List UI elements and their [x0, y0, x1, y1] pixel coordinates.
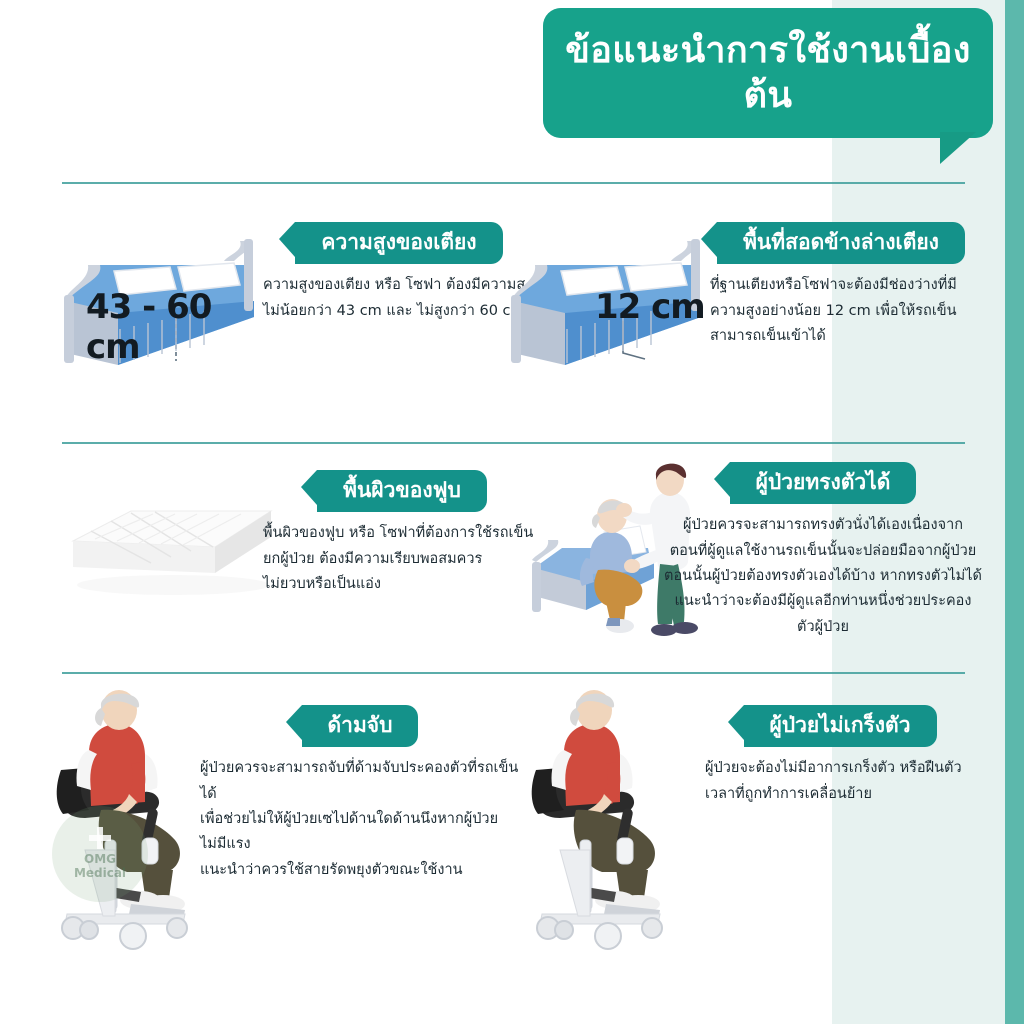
under-bed-clearance-measure-label: 12 cm: [595, 287, 705, 327]
illustration-bed-height: 43 - 60 cm: [58, 225, 258, 385]
header-speech-bubble: ข้อแนะนำการใช้งานเบื้องต้น: [543, 8, 993, 138]
ribbon-wrap-handle-grip: ด้ามจับ: [200, 705, 520, 747]
section-body-handle-grip: ผู้ป่วยควรจะสามารถจับที่ด้ามจับประคองตัว…: [200, 756, 520, 883]
infographic-page: ข้อแนะนำการใช้งานเบื้องต้น 43 - 60 cm คว…: [0, 0, 1024, 1024]
divider-3: [62, 672, 965, 674]
ribbon-wrap-mattress-surface: พื้นผิวของฟูบ: [263, 470, 541, 512]
bed-height-measure-label: 43 - 60 cm: [86, 287, 258, 367]
section-body-mattress-surface: พื้นผิวของฟูบ หรือ โซฟาที่ต้องการใช้รถเข…: [263, 521, 541, 597]
section-title-mattress-surface: พื้นผิวของฟูบ: [317, 470, 487, 512]
section-title-bed-height: ความสูงของเตียง: [295, 222, 502, 264]
illustration-transfer-chair-right: [520, 690, 720, 950]
patient-in-transfer-chair-icon: [520, 690, 720, 950]
divider-1: [62, 182, 965, 184]
card-no-muscle-spasm: ผู้ป่วยไม่เกร็งตัว ผู้ป่วยจะต้องไม่มีอาก…: [705, 705, 975, 807]
section-body-no-muscle-spasm: ผู้ป่วยจะต้องไม่มีอาการเกร็งตัว หรือฝืนต…: [705, 756, 975, 807]
ribbon-wrap-patient-can-sit-upright: ผู้ป่วยทรงตัวได้: [663, 462, 983, 504]
ribbon-wrap-no-muscle-spasm: ผู้ป่วยไม่เกร็งตัว: [705, 705, 975, 747]
section-title-handle-grip: ด้ามจับ: [302, 705, 419, 747]
illustration-under-bed-clearance: 12 cm: [505, 225, 705, 385]
ribbon-wrap-bed-height: ความสูงของเตียง: [263, 222, 535, 264]
card-bed-height: ความสูงของเตียง ความสูงของเตียง หรือ โซฟ…: [263, 222, 535, 324]
section-title-no-muscle-spasm: ผู้ป่วยไม่เกร็งตัว: [744, 705, 937, 747]
header-bubble-tail: [940, 132, 976, 164]
right-teal-strip: [1005, 0, 1024, 1024]
ribbon-wrap-under-bed-clearance: พื้นที่สอดข้างล่างเตียง: [710, 222, 972, 264]
card-under-bed-clearance: พื้นที่สอดข้างล่างเตียง ที่ฐานเตียงหรือโ…: [710, 222, 972, 349]
section-body-under-bed-clearance: ที่ฐานเตียงหรือโซฟาจะต้องมีช่องว่างที่มี…: [710, 273, 972, 349]
page-title: ข้อแนะนำการใช้งานเบื้องต้น: [543, 8, 993, 138]
card-mattress-surface: พื้นผิวของฟูบ พื้นผิวของฟูบ หรือ โซฟาที่…: [263, 470, 541, 597]
section-title-under-bed-clearance: พื้นที่สอดข้างล่างเตียง: [717, 222, 965, 264]
section-title-patient-can-sit-upright: ผู้ป่วยทรงตัวได้: [730, 462, 917, 504]
divider-2: [62, 442, 965, 444]
foam-mattress-icon: [55, 495, 285, 610]
illustration-foam-mattress: [55, 495, 275, 605]
section-body-bed-height: ความสูงของเตียง หรือ โซฟา ต้องมีความสูง …: [263, 273, 535, 324]
section-body-patient-can-sit-upright: ผู้ป่วยควรจะสามารถทรงตัวนั่งได้เองเนื่อง…: [663, 513, 983, 640]
card-handle-grip: ด้ามจับ ผู้ป่วยควรจะสามารถจับที่ด้ามจับป…: [200, 705, 520, 883]
card-patient-can-sit-upright: ผู้ป่วยทรงตัวได้ ผู้ป่วยควรจะสามารถทรงตั…: [663, 462, 983, 640]
